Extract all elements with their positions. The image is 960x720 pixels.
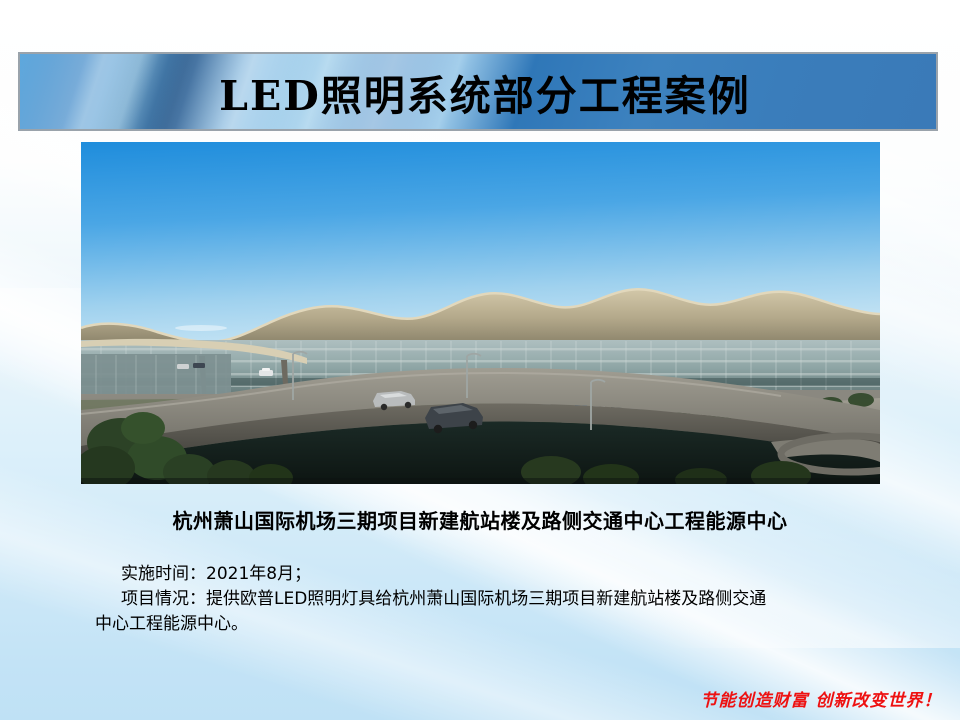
project-detail-line-1: 项目情况：提供欧普LED照明灯具给杭州萧山国际机场三期项目新建航站楼及路侧交通	[95, 587, 885, 612]
project-photo	[81, 142, 880, 484]
title-banner: LED照明系统部分工程案例	[18, 52, 938, 131]
airport-terminal-illustration	[81, 142, 880, 484]
page-title: LED照明系统部分工程案例	[20, 54, 936, 129]
project-detail-line-2: 中心工程能源中心。	[95, 612, 885, 637]
implementation-date-line: 实施时间：2021年8月；	[95, 562, 885, 587]
project-description: 实施时间：2021年8月； 项目情况：提供欧普LED照明灯具给杭州萧山国际机场三…	[95, 562, 885, 637]
footer-slogan: 节能创造财富 创新改变世界！	[690, 686, 952, 711]
slide: LED照明系统部分工程案例	[0, 0, 960, 720]
photo-caption: 杭州萧山国际机场三期项目新建航站楼及路侧交通中心工程能源中心	[0, 505, 960, 534]
